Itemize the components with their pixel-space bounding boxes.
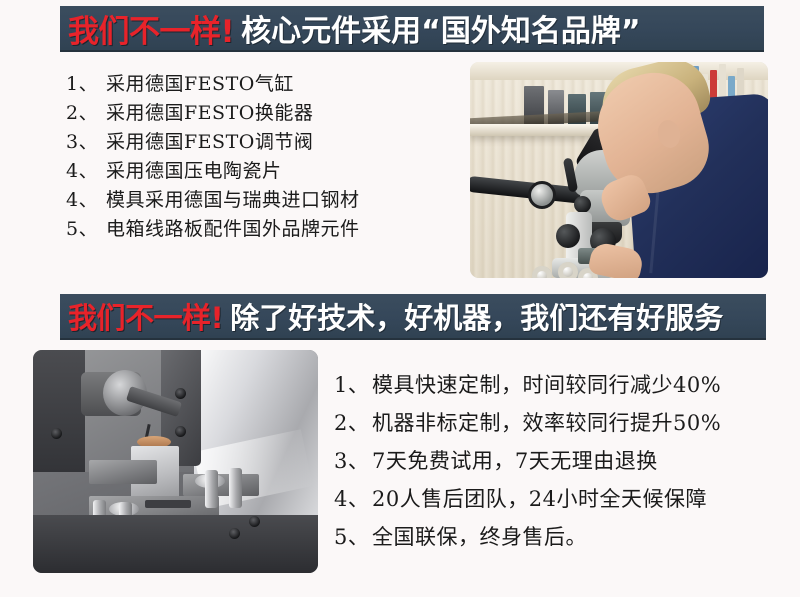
banner-highlight-text: 我们不一样! (68, 6, 234, 51)
list-item-text: 采用德国压电陶瓷片 (106, 160, 282, 182)
list-item-number: 3、 (334, 442, 372, 480)
machine-base (33, 515, 318, 573)
list-item-number: 1、 (334, 366, 372, 404)
section-banner-core-components: 我们不一样! 核心元件采用“国外知名品牌” (60, 6, 764, 52)
list-item: 3、采用德国FESTO调节阀 (66, 128, 360, 157)
list-item-text: 模具采用德国与瑞典进口钢材 (106, 189, 360, 211)
list-item: 3、7天免费试用，7天无理由退换 (334, 442, 721, 480)
list-item: 4、20人售后团队，24小时全天候保障 (334, 480, 721, 518)
list-item-number: 2、 (334, 404, 372, 442)
core-components-list: 1、采用德国FESTO气缸 2、采用德国FESTO换能器 3、采用德国FESTO… (66, 70, 360, 244)
list-item: 5、电箱线路板配件国外品牌元件 (66, 215, 360, 244)
bolt-hole (229, 528, 240, 539)
list-item-text: 7天免费试用，7天无理由退换 (372, 449, 658, 473)
list-item: 1、采用德国FESTO气缸 (66, 70, 360, 99)
machine-tooling-photo (33, 350, 318, 573)
list-item: 5、全国联保，终身售后。 (334, 518, 721, 556)
list-item-number: 5、 (334, 518, 372, 556)
list-item-text: 采用德国FESTO气缸 (106, 73, 294, 95)
microscope-focus-knob (556, 224, 580, 248)
machine-back-plate-dark (33, 350, 85, 472)
list-item: 4、模具采用德国与瑞典进口钢材 (66, 186, 360, 215)
microscope-zoom-knob (574, 196, 591, 213)
bolt-hole (175, 426, 186, 437)
socket-bolt (229, 468, 242, 508)
list-item-number: 4、 (334, 480, 372, 518)
bolt-hole (51, 428, 62, 439)
list-item: 2、机器非标定制，效率较同行提升50% (334, 404, 721, 442)
section-banner-service: 我们不一样! 除了好技术，好机器，我们还有好服务 (60, 294, 766, 340)
list-item-text: 采用德国FESTO换能器 (106, 102, 313, 124)
banner-highlight-text: 我们不一样! (68, 295, 223, 337)
bolt-hole (175, 388, 186, 399)
banner-body-text: 核心元件采用“国外知名品牌” (241, 6, 640, 50)
list-item-text: 模具快速定制，时间较同行减少40% (372, 373, 721, 397)
list-item-number: 1、 (66, 70, 106, 99)
socket-bolt (205, 470, 218, 508)
list-item-text: 20人售后团队，24小时全天候保障 (372, 487, 707, 511)
list-item-text: 机器非标定制，效率较同行提升50% (372, 411, 721, 435)
technician-microscope-photo (470, 62, 768, 278)
list-item-number: 4、 (66, 157, 106, 186)
banner-body-text: 除了好技术，好机器，我们还有好服务 (230, 295, 723, 337)
bench-part-ring (558, 262, 578, 278)
list-item-text: 电箱线路板配件国外品牌元件 (106, 218, 360, 240)
fixture-slot (145, 500, 191, 508)
list-item-text: 全国联保，终身售后。 (372, 525, 587, 549)
list-item: 4、采用德国压电陶瓷片 (66, 157, 360, 186)
list-item-number: 2、 (66, 99, 106, 128)
list-item: 1、模具快速定制，时间较同行减少40% (334, 366, 721, 404)
microscope-arm-joint (528, 181, 556, 209)
bolt-hole (249, 516, 260, 527)
fixture-plate (89, 460, 157, 484)
list-item-text: 采用德国FESTO调节阀 (106, 131, 313, 153)
list-item-number: 3、 (66, 128, 106, 157)
promo-page: 我们不一样! 核心元件采用“国外知名品牌” 1、采用德国FESTO气缸 2、采用… (0, 0, 800, 597)
list-item-number: 5、 (66, 215, 106, 244)
list-item-number: 4、 (66, 186, 106, 215)
service-list: 1、模具快速定制，时间较同行减少40% 2、机器非标定制，效率较同行提升50% … (334, 366, 721, 556)
list-item: 2、采用德国FESTO换能器 (66, 99, 360, 128)
